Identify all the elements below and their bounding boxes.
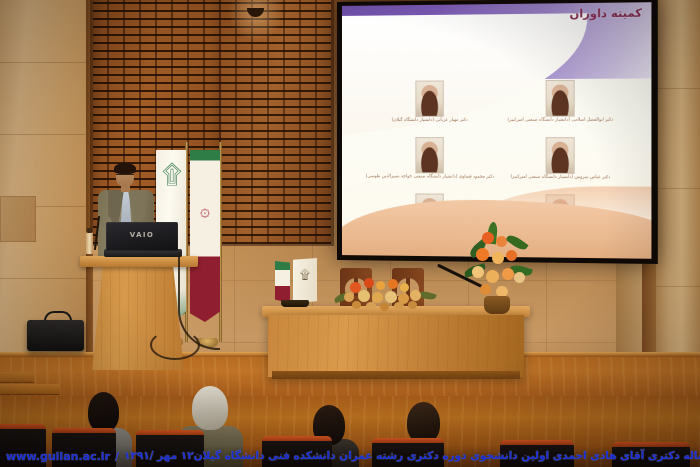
speaker-hair — [114, 163, 136, 174]
stage-step — [0, 384, 60, 394]
flower-arrangement-tall — [462, 222, 532, 314]
website-url[interactable]: www.guilan.ac.ir — [6, 450, 110, 463]
jury-member: دکتر مهیار عربانی (دانشیار دانشگاه گیلان… — [356, 81, 504, 124]
auditorium-photo: کمیته داوران دکتر ابوالفضل اسلامی (دانشی… — [0, 0, 700, 467]
jury-name: دکتر ابوالفضل اسلامی (دانشیار دانشگاه صن… — [485, 118, 637, 124]
sconce-glow — [228, 0, 284, 42]
panel-table — [268, 315, 524, 377]
desk-flag-iran — [275, 261, 290, 303]
banner-date: ۱۲ مهر /۱۳۹۱ — [124, 450, 194, 462]
water-bottle — [86, 232, 93, 254]
stone-pilaster — [0, 0, 86, 372]
jury-photo — [416, 138, 442, 172]
bottle-cap — [87, 228, 92, 233]
desk-flag-stand — [281, 300, 309, 307]
jury-photo — [547, 138, 574, 173]
banner-left-group: www.guilan.ac.ir / ۱۲ مهر /۱۳۹۱ — [6, 450, 194, 463]
jury-name: دکتر عباس سروش (دانشیار دانشگاه صنعتی ام… — [485, 175, 637, 182]
laptop: VAIO — [106, 222, 178, 251]
jury-name: دکتر محمود قضاوی (دانشیار دانشگاه صنعتی … — [356, 174, 504, 181]
jury-member: دکتر عباس سروش (دانشیار دانشگاه صنعتی ام… — [485, 138, 637, 181]
stage-step — [0, 372, 34, 382]
university-emblem-icon: ۩ — [160, 160, 184, 220]
panel-table-base — [272, 371, 520, 379]
jury-member: دکتر محمود قضاوی (دانشیار دانشگاه صنعتی … — [356, 138, 504, 181]
jury-photo — [547, 81, 574, 116]
iran-emblem-icon: ۞ — [194, 200, 216, 224]
bottom-banner: www.guilan.ac.ir / ۱۲ مهر /۱۳۹۱ دفاع از … — [0, 445, 700, 467]
jury-name: دکتر مهیار عربانی (دانشیار دانشگاه گیلان… — [356, 118, 504, 124]
desk-flag-emblem-icon: ۩ — [297, 266, 313, 288]
laptop-bag — [27, 320, 84, 351]
flower-arrangement — [330, 276, 440, 312]
laptop-brand-label: VAIO — [106, 231, 178, 239]
glasses-icon — [116, 174, 134, 179]
stone-niche — [0, 196, 36, 242]
jury-photo — [416, 81, 442, 115]
slide-title: کمیته داوران — [569, 6, 641, 20]
wall-column-right — [656, 0, 700, 398]
projection-screen: کمیته داوران دکتر ابوالفضل اسلامی (دانشی… — [342, 2, 651, 259]
banner-separator: / — [115, 450, 119, 463]
banner-headline: دفاع از رساله دکتری آقای هادی احمدی اولی… — [194, 450, 700, 462]
jury-member: دکتر ابوالفضل اسلامی (دانشیار دانشگاه صن… — [485, 81, 637, 124]
cable-coil — [150, 330, 200, 360]
